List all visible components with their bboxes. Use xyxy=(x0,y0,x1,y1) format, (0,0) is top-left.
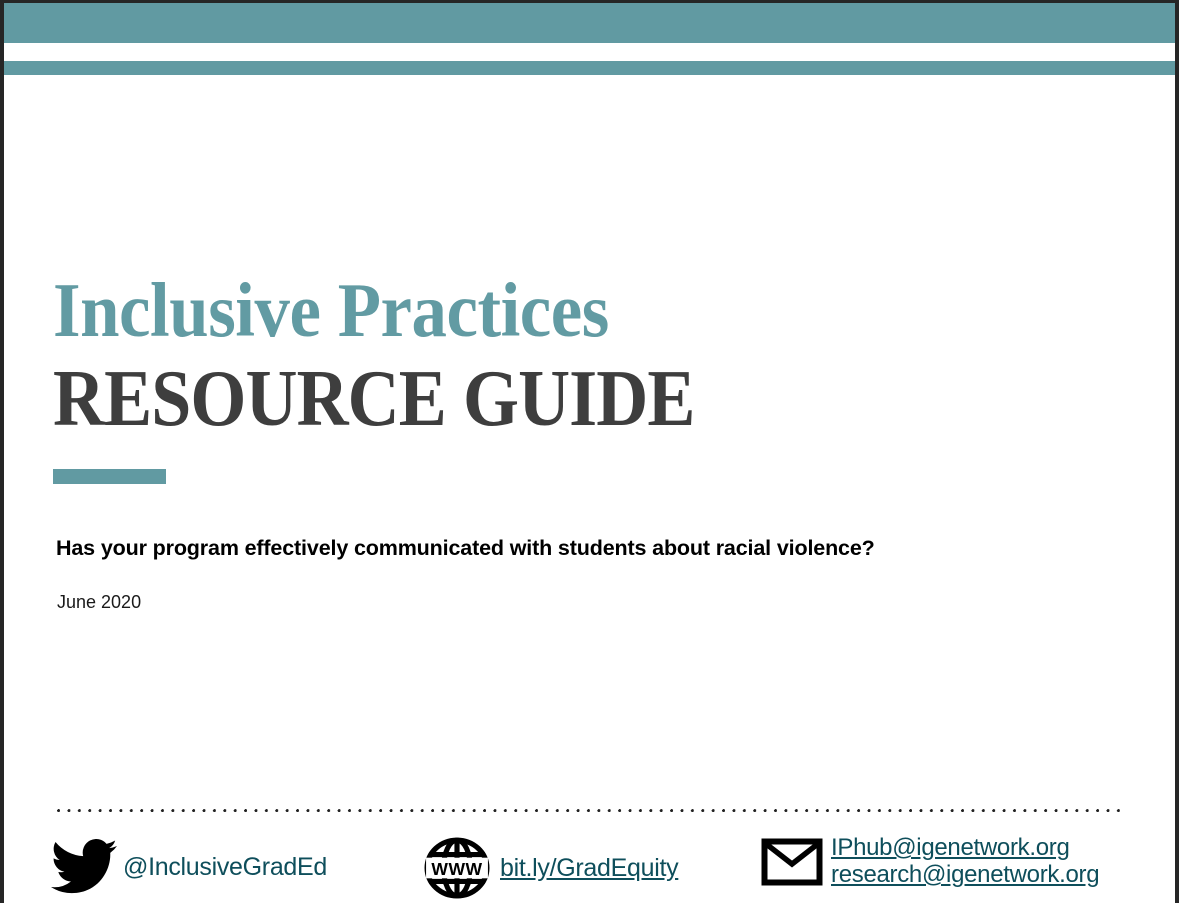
title-block: Inclusive Practices RESOURCE GUIDE xyxy=(53,275,1053,484)
twitter-bird-icon xyxy=(51,839,117,895)
page-title-secondary: RESOURCE GUIDE xyxy=(53,359,953,439)
document-page: Inclusive Practices RESOURCE GUIDE Has y… xyxy=(0,0,1179,903)
header-bar-thick xyxy=(4,3,1175,43)
email-address-primary[interactable]: IPhub@igenetwork.org xyxy=(831,835,1099,862)
globe-www-icon: WWW xyxy=(424,837,490,899)
contact-email[interactable]: IPhub@igenetwork.org research@igenetwork… xyxy=(761,835,1099,889)
svg-text:WWW: WWW xyxy=(431,859,482,879)
website-url-link[interactable]: bit.ly/GradEquity xyxy=(500,854,678,883)
twitter-handle[interactable]: @InclusiveGradEd xyxy=(123,853,327,882)
title-accent-rule xyxy=(53,469,166,484)
page-title-primary: Inclusive Practices xyxy=(53,275,973,347)
header-bar-thin xyxy=(4,61,1175,75)
publication-date: June 2020 xyxy=(57,592,141,613)
subtitle-question: Has your program effectively communicate… xyxy=(56,536,875,561)
contact-twitter[interactable]: @InclusiveGradEd xyxy=(51,839,327,895)
contact-website[interactable]: WWW bit.ly/GradEquity xyxy=(424,837,678,899)
envelope-icon xyxy=(761,838,823,886)
footer-divider xyxy=(57,809,1125,813)
footer: @InclusiveGradEd WWW bit.ly/GradEquity xyxy=(4,831,1175,903)
email-address-list: IPhub@igenetwork.org research@igenetwork… xyxy=(831,835,1099,889)
email-address-secondary[interactable]: research@igenetwork.org xyxy=(831,862,1099,889)
